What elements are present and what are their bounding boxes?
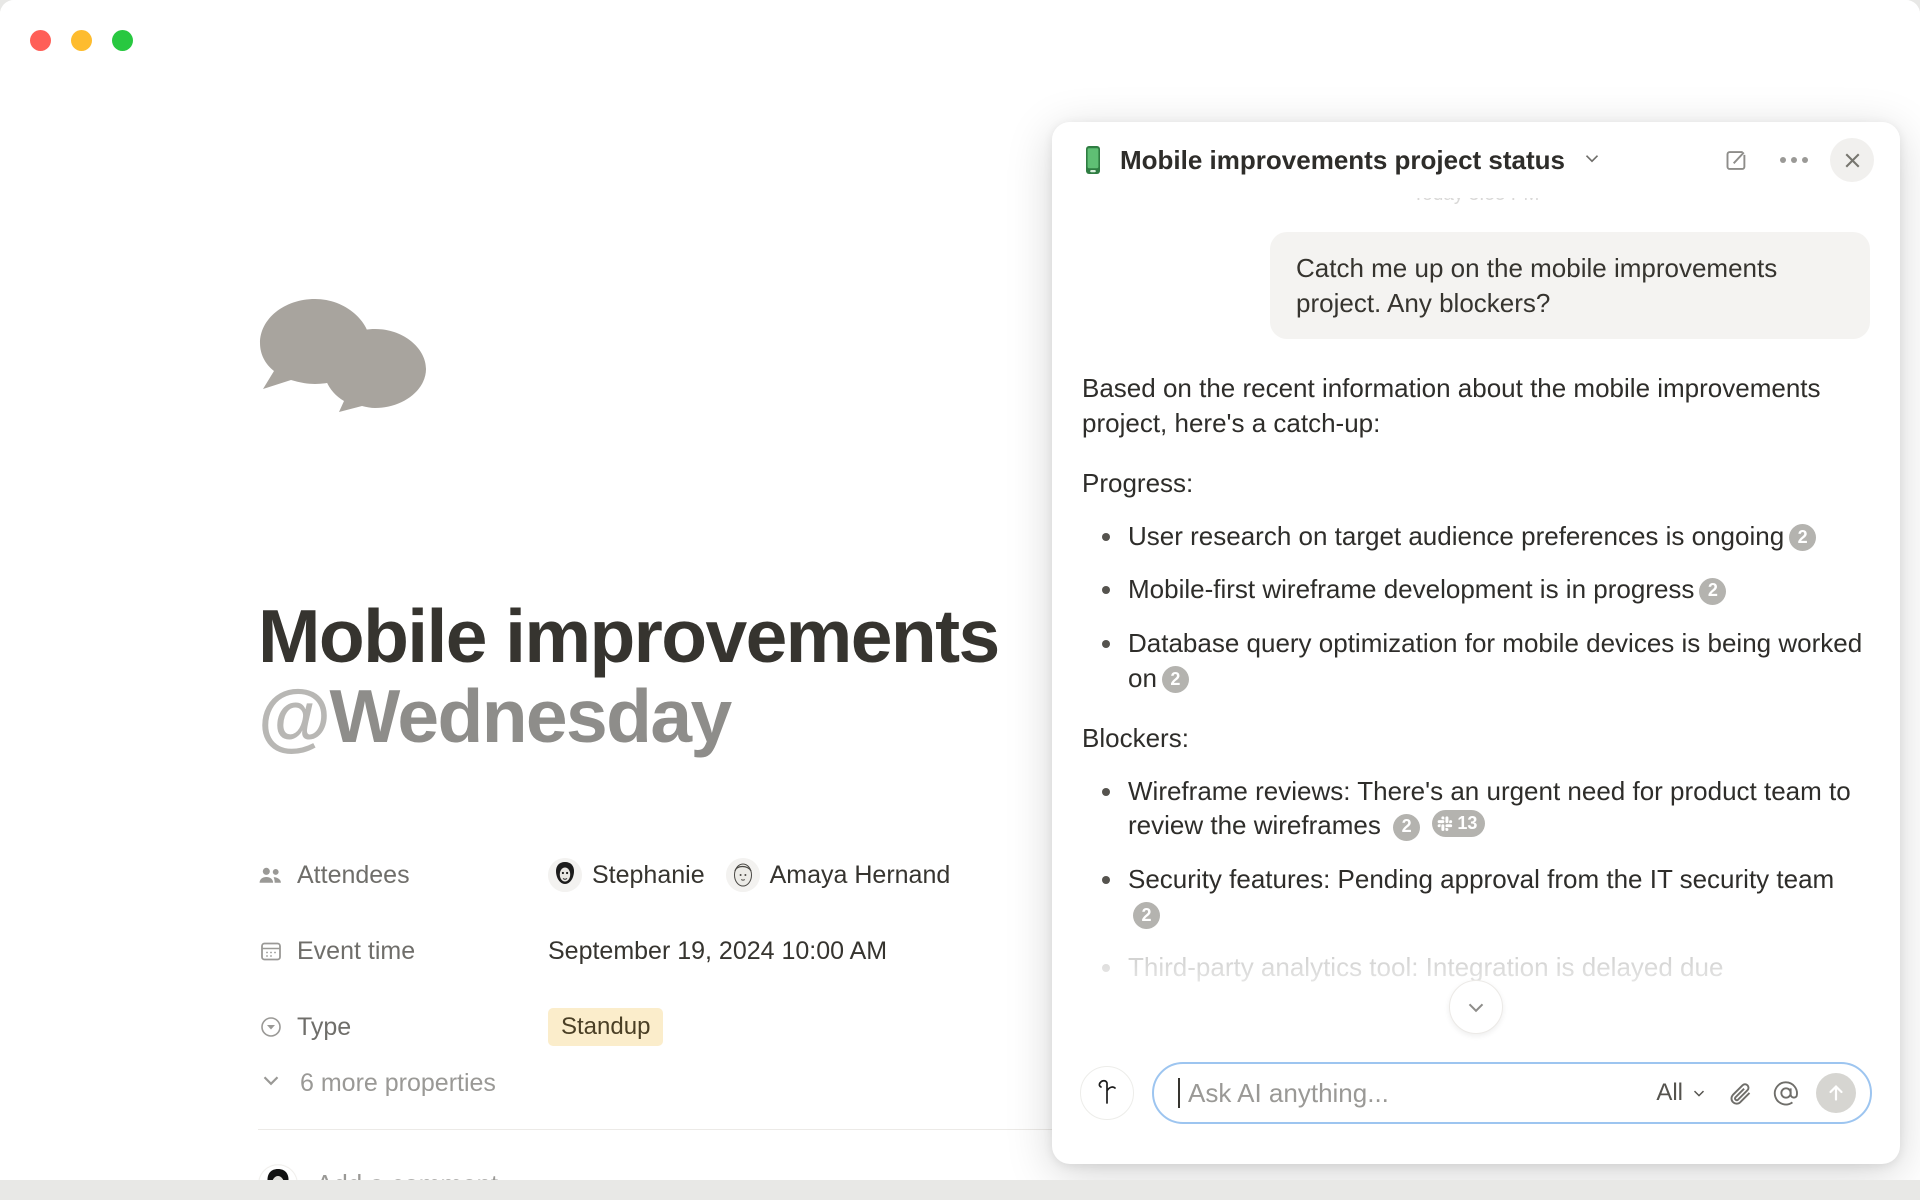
divider [258,1129,1078,1130]
people-icon [258,863,283,888]
more-properties-toggle[interactable]: 6 more properties [258,1067,496,1100]
compose-icon[interactable] [1714,138,1758,182]
ai-conversation[interactable]: Today 3:55 PM Catch me up on the mobile … [1052,198,1900,1042]
document-page: Mobile improvements @Wednesday Attendees [0,72,1100,1180]
minimize-window-button[interactable] [71,30,92,51]
property-value-type: Standup [548,1008,663,1046]
status-badge[interactable]: Standup [548,1008,663,1046]
section-heading-progress: Progress: [1082,466,1870,501]
calendar-icon [258,939,283,964]
property-label-text: Attendees [297,861,410,890]
list-item: Wireframe reviews: There's an urgent nee… [1082,774,1870,843]
page-title-mention: Wednesday [330,674,731,758]
property-label-event-time: Event time [258,937,548,966]
ai-assistant-panel: Mobile improvements project status Today… [1052,122,1900,1164]
page-title[interactable]: Mobile improvements @Wednesday [258,597,999,756]
more-options-icon[interactable] [1772,138,1816,182]
mobile-phone-icon [1080,145,1106,175]
title-bar [0,0,1920,72]
scroll-to-bottom-button[interactable] [1449,980,1503,1034]
list-item: Security features: Pending approval from… [1082,862,1870,931]
citation-badge[interactable]: 2 [1699,578,1726,605]
add-comment-row[interactable]: Add a comment... [258,1164,520,1180]
comment-input-placeholder[interactable]: Add a comment... [316,1169,520,1181]
list-item-text: Mobile-first wireframe development is in… [1128,574,1694,604]
app-window: Mobile improvements @Wednesday Attendees [0,0,1920,1180]
list-item: User research on target audience prefere… [1082,519,1870,554]
attendee-name: Amaya Hernand [770,861,951,890]
property-value-event-time: September 19, 2024 10:00 AM [548,937,887,966]
zoom-window-button[interactable] [112,30,133,51]
message-timestamp: Today 3:55 PM [1082,198,1870,206]
send-button[interactable] [1816,1073,1856,1113]
attachment-icon[interactable] [1720,1073,1760,1113]
mention-at-symbol: @ [258,674,330,758]
ai-panel-header: Mobile improvements project status [1052,122,1900,198]
citation-badge[interactable]: 2 [1789,524,1816,551]
avatar [548,858,582,892]
attendee-stephanie[interactable]: Stephanie [548,858,705,892]
avatar [726,858,760,892]
property-list: Attendees Stephanie Amaya Hernand [258,837,1078,1065]
speech-bubbles-icon [258,297,428,412]
blockers-list: Wireframe reviews: There's an urgent nee… [1082,774,1870,985]
close-window-button[interactable] [30,30,51,51]
slack-citation-badge[interactable]: 13 [1432,810,1485,837]
citation-badge[interactable]: 2 [1162,666,1189,693]
progress-list: User research on target audience prefere… [1082,519,1870,695]
user-message: Catch me up on the mobile improvements p… [1270,232,1870,339]
attendee-amaya[interactable]: Amaya Hernand [726,858,951,892]
slack-citation-count: 13 [1457,812,1477,836]
chevron-down-icon [258,1067,284,1100]
list-item-text: Third-party analytics tool: Integration … [1128,952,1723,982]
close-icon[interactable] [1830,138,1874,182]
section-heading-blockers: Blockers: [1082,721,1870,756]
scope-selector[interactable]: All [1656,1079,1708,1107]
list-item: Database query optimization for mobile d… [1082,626,1870,695]
page-title-main: Mobile improvements [258,594,999,678]
property-row-attendees[interactable]: Attendees Stephanie Amaya Hernand [258,837,1078,913]
ai-panel-title[interactable]: Mobile improvements project status [1120,145,1565,176]
citation-badge[interactable]: 2 [1393,814,1420,841]
attendee-name: Stephanie [592,861,705,890]
property-label-text: Type [297,1013,351,1042]
list-item-text: Security features: Pending approval from… [1128,864,1834,894]
mention-icon[interactable] [1766,1073,1806,1113]
ai-response-intro: Based on the recent information about th… [1082,371,1870,440]
scope-label: All [1656,1079,1683,1107]
property-value-attendees: Stephanie Amaya Hernand [548,858,962,892]
property-label-type: Type [258,1013,548,1042]
list-item-text: Wireframe reviews: There's an urgent nee… [1128,776,1851,841]
window-controls [30,30,133,51]
list-item-text: User research on target audience prefere… [1128,521,1784,551]
text-cursor [1178,1078,1180,1108]
composer-avatar[interactable] [1080,1066,1134,1120]
more-properties-label: 6 more properties [300,1069,496,1098]
property-row-event-time[interactable]: Event time September 19, 2024 10:00 AM [258,913,1078,989]
list-item-text: Database query optimization for mobile d… [1128,628,1862,693]
list-item: Mobile-first wireframe development is in… [1082,572,1870,607]
avatar [258,1164,298,1180]
property-label-attendees: Attendees [258,861,548,890]
ai-input-wrapper[interactable]: Ask AI anything... All [1152,1062,1872,1124]
ai-input-placeholder[interactable]: Ask AI anything... [1188,1078,1650,1109]
property-label-text: Event time [297,937,415,966]
citation-badge[interactable]: 2 [1133,902,1160,929]
chevron-down-icon[interactable] [1581,147,1603,174]
ai-composer: Ask AI anything... All [1052,1042,1900,1164]
select-icon [258,1015,283,1040]
property-row-type[interactable]: Type Standup [258,989,1078,1065]
